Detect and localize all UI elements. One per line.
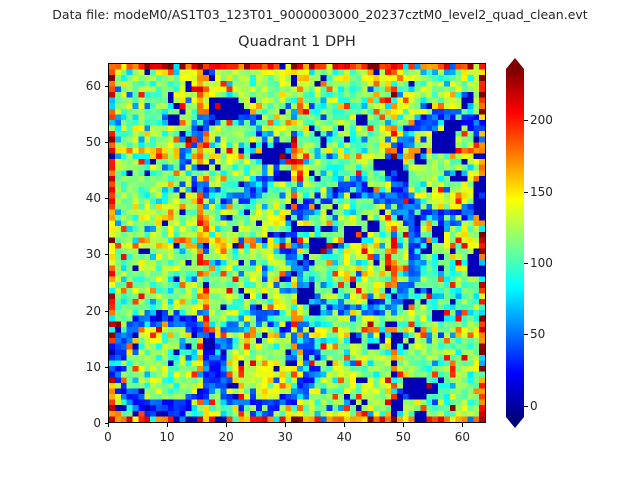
- y-tick-label: 60: [86, 79, 101, 93]
- y-tick-mark: [105, 423, 109, 424]
- x-tick-label: 0: [104, 430, 112, 444]
- colorbar-tick-mark: [524, 263, 528, 264]
- y-tick-label: 30: [86, 247, 101, 261]
- y-tick-label: 0: [93, 416, 101, 430]
- colorbar: [506, 58, 524, 428]
- colorbar-tick-mark: [524, 334, 528, 335]
- y-tick-label: 10: [86, 360, 101, 374]
- colorbar-gradient: [506, 69, 524, 417]
- y-tick-mark: [105, 254, 109, 255]
- colorbar-tick-label: 100: [530, 256, 553, 270]
- x-tick-mark: [403, 423, 404, 427]
- y-tick-mark: [105, 142, 109, 143]
- x-tick-mark: [167, 423, 168, 427]
- x-tick-mark: [344, 423, 345, 427]
- x-tick-label: 40: [337, 430, 352, 444]
- y-tick-mark: [105, 86, 109, 87]
- figure-canvas: Data file: modeM0/AS1T03_123T01_90000030…: [0, 0, 640, 480]
- x-tick-label: 50: [396, 430, 411, 444]
- colorbar-extend-min-arrow: [506, 417, 524, 428]
- y-tick-label: 40: [86, 191, 101, 205]
- x-tick-label: 30: [278, 430, 293, 444]
- x-tick-mark: [462, 423, 463, 427]
- y-tick-label: 50: [86, 135, 101, 149]
- colorbar-tick-label: 50: [530, 327, 545, 341]
- axes-title: Quadrant 1 DPH: [108, 34, 486, 50]
- heatmap-image: [109, 64, 485, 422]
- y-tick-mark: [105, 311, 109, 312]
- colorbar-tick-mark: [524, 406, 528, 407]
- y-tick-label: 20: [86, 304, 101, 318]
- colorbar-tick-label: 0: [530, 399, 538, 413]
- x-tick-mark: [108, 423, 109, 427]
- x-tick-label: 20: [218, 430, 233, 444]
- colorbar-tick-mark: [524, 192, 528, 193]
- figure-suptitle: Data file: modeM0/AS1T03_123T01_90000030…: [0, 7, 640, 22]
- colorbar-tick-mark: [524, 120, 528, 121]
- colorbar-extend-max-arrow: [506, 58, 524, 69]
- y-tick-mark: [105, 198, 109, 199]
- colorbar-tick-label: 200: [530, 113, 553, 127]
- x-tick-label: 10: [159, 430, 174, 444]
- x-tick-mark: [285, 423, 286, 427]
- x-tick-label: 60: [455, 430, 470, 444]
- y-tick-mark: [105, 367, 109, 368]
- colorbar-tick-label: 150: [530, 185, 553, 199]
- colorbar-gradient-body: [506, 69, 524, 417]
- x-tick-mark: [226, 423, 227, 427]
- heatmap-axes: [108, 63, 486, 423]
